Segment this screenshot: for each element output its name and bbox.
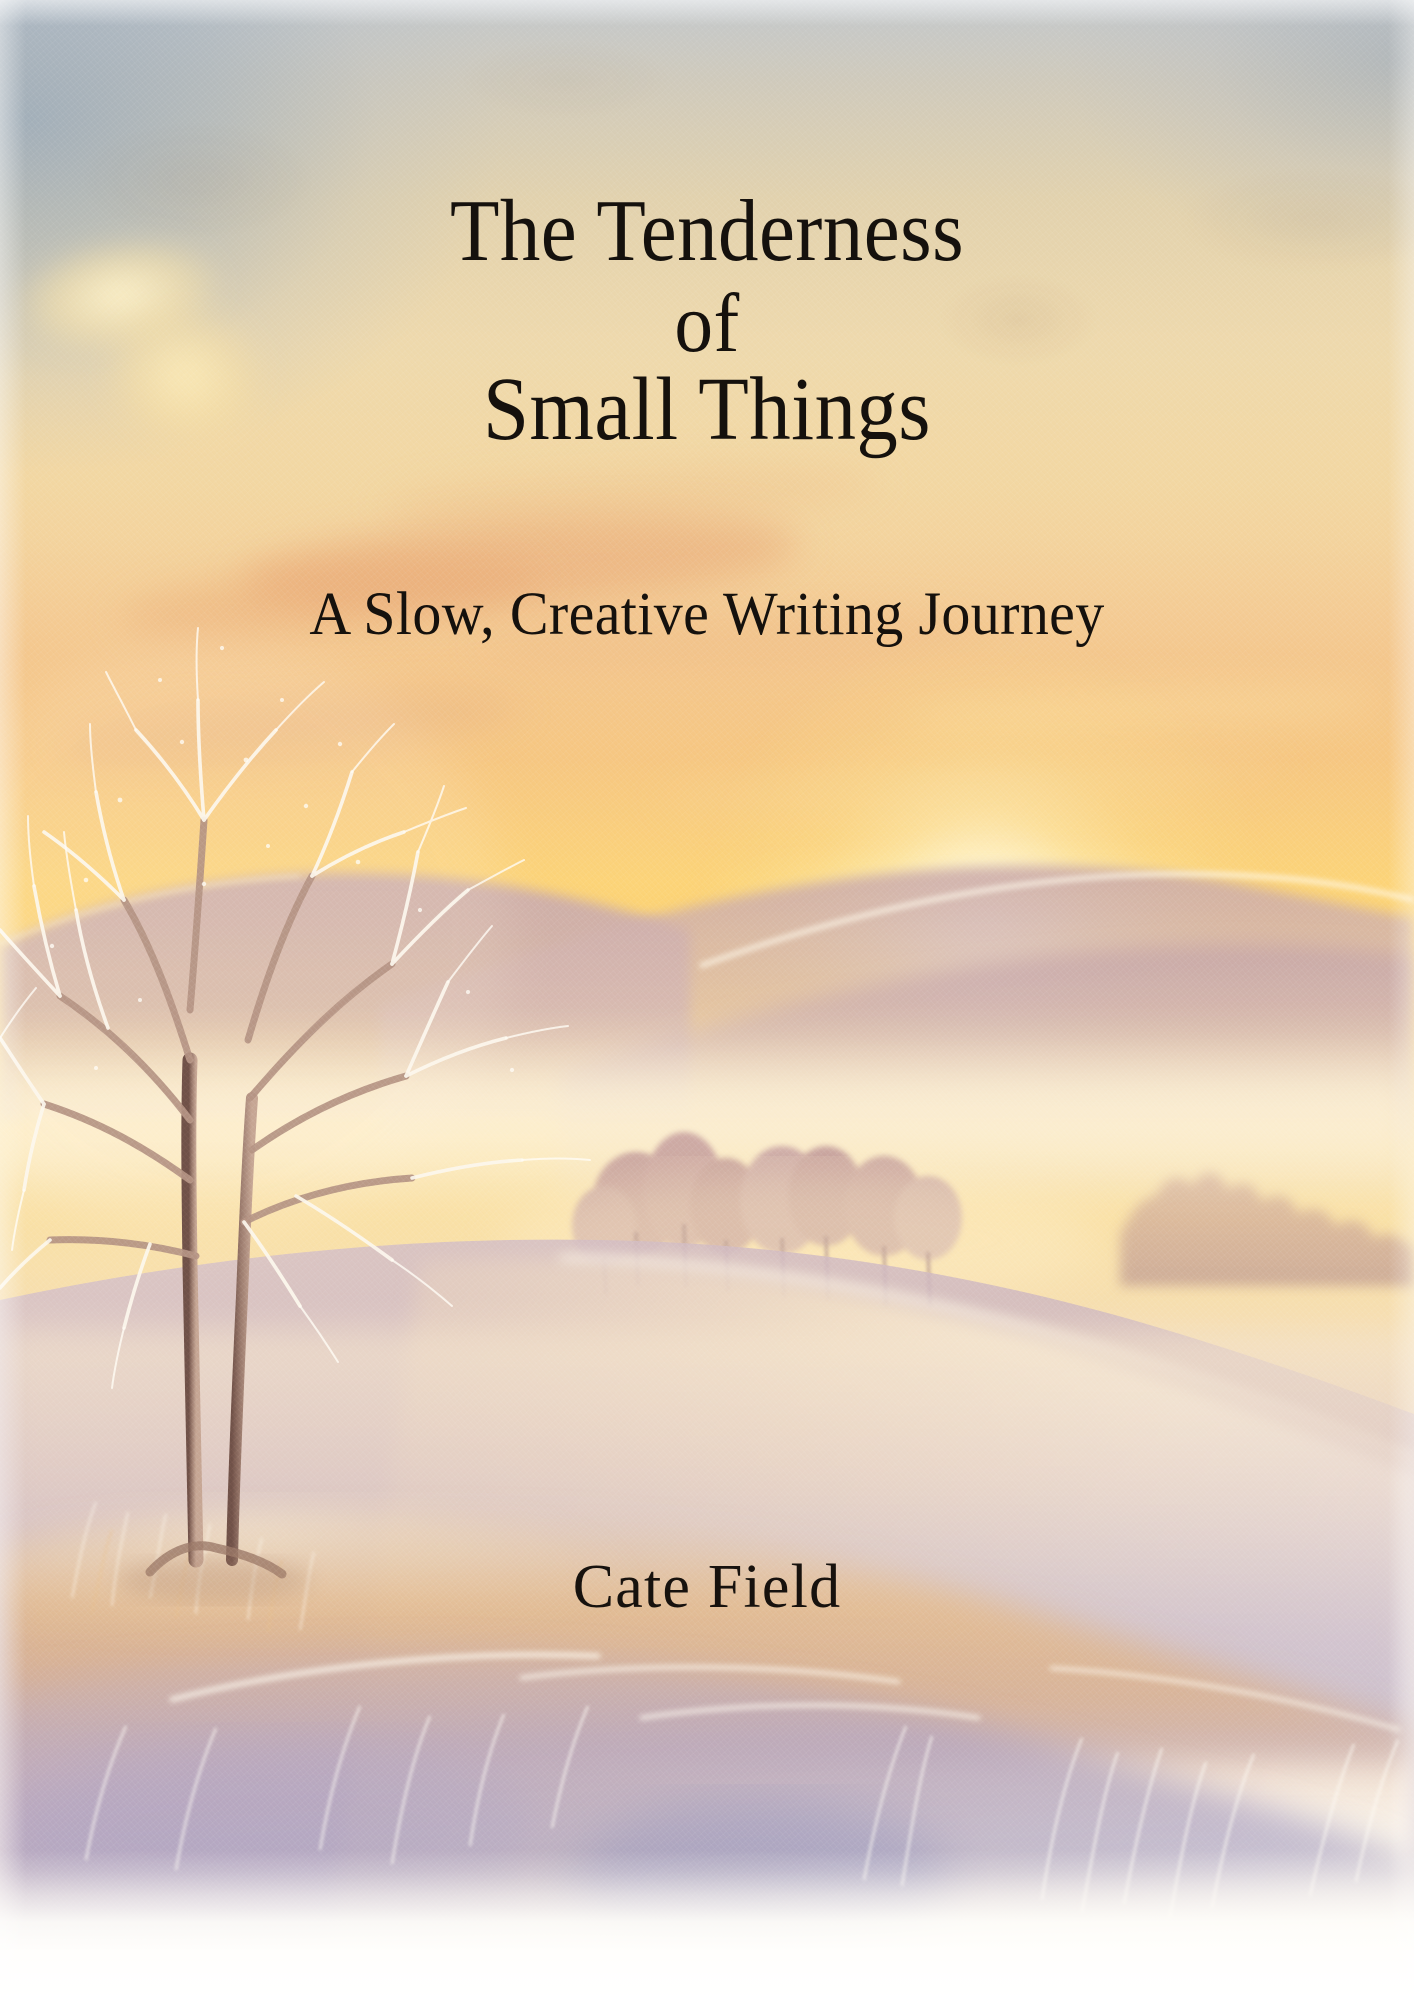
book-cover: The Tenderness of Small Things A Slow, C… <box>0 0 1414 2000</box>
author-name: Cate Field <box>0 1552 1414 1623</box>
title-line-3: Small Things <box>57 363 1358 457</box>
book-subtitle: A Slow, Creative Writing Journey <box>35 580 1378 650</box>
title-line-1: The Tenderness <box>57 186 1358 278</box>
book-title: The Tenderness of Small Things <box>0 186 1414 456</box>
title-line-2: of <box>57 280 1358 367</box>
